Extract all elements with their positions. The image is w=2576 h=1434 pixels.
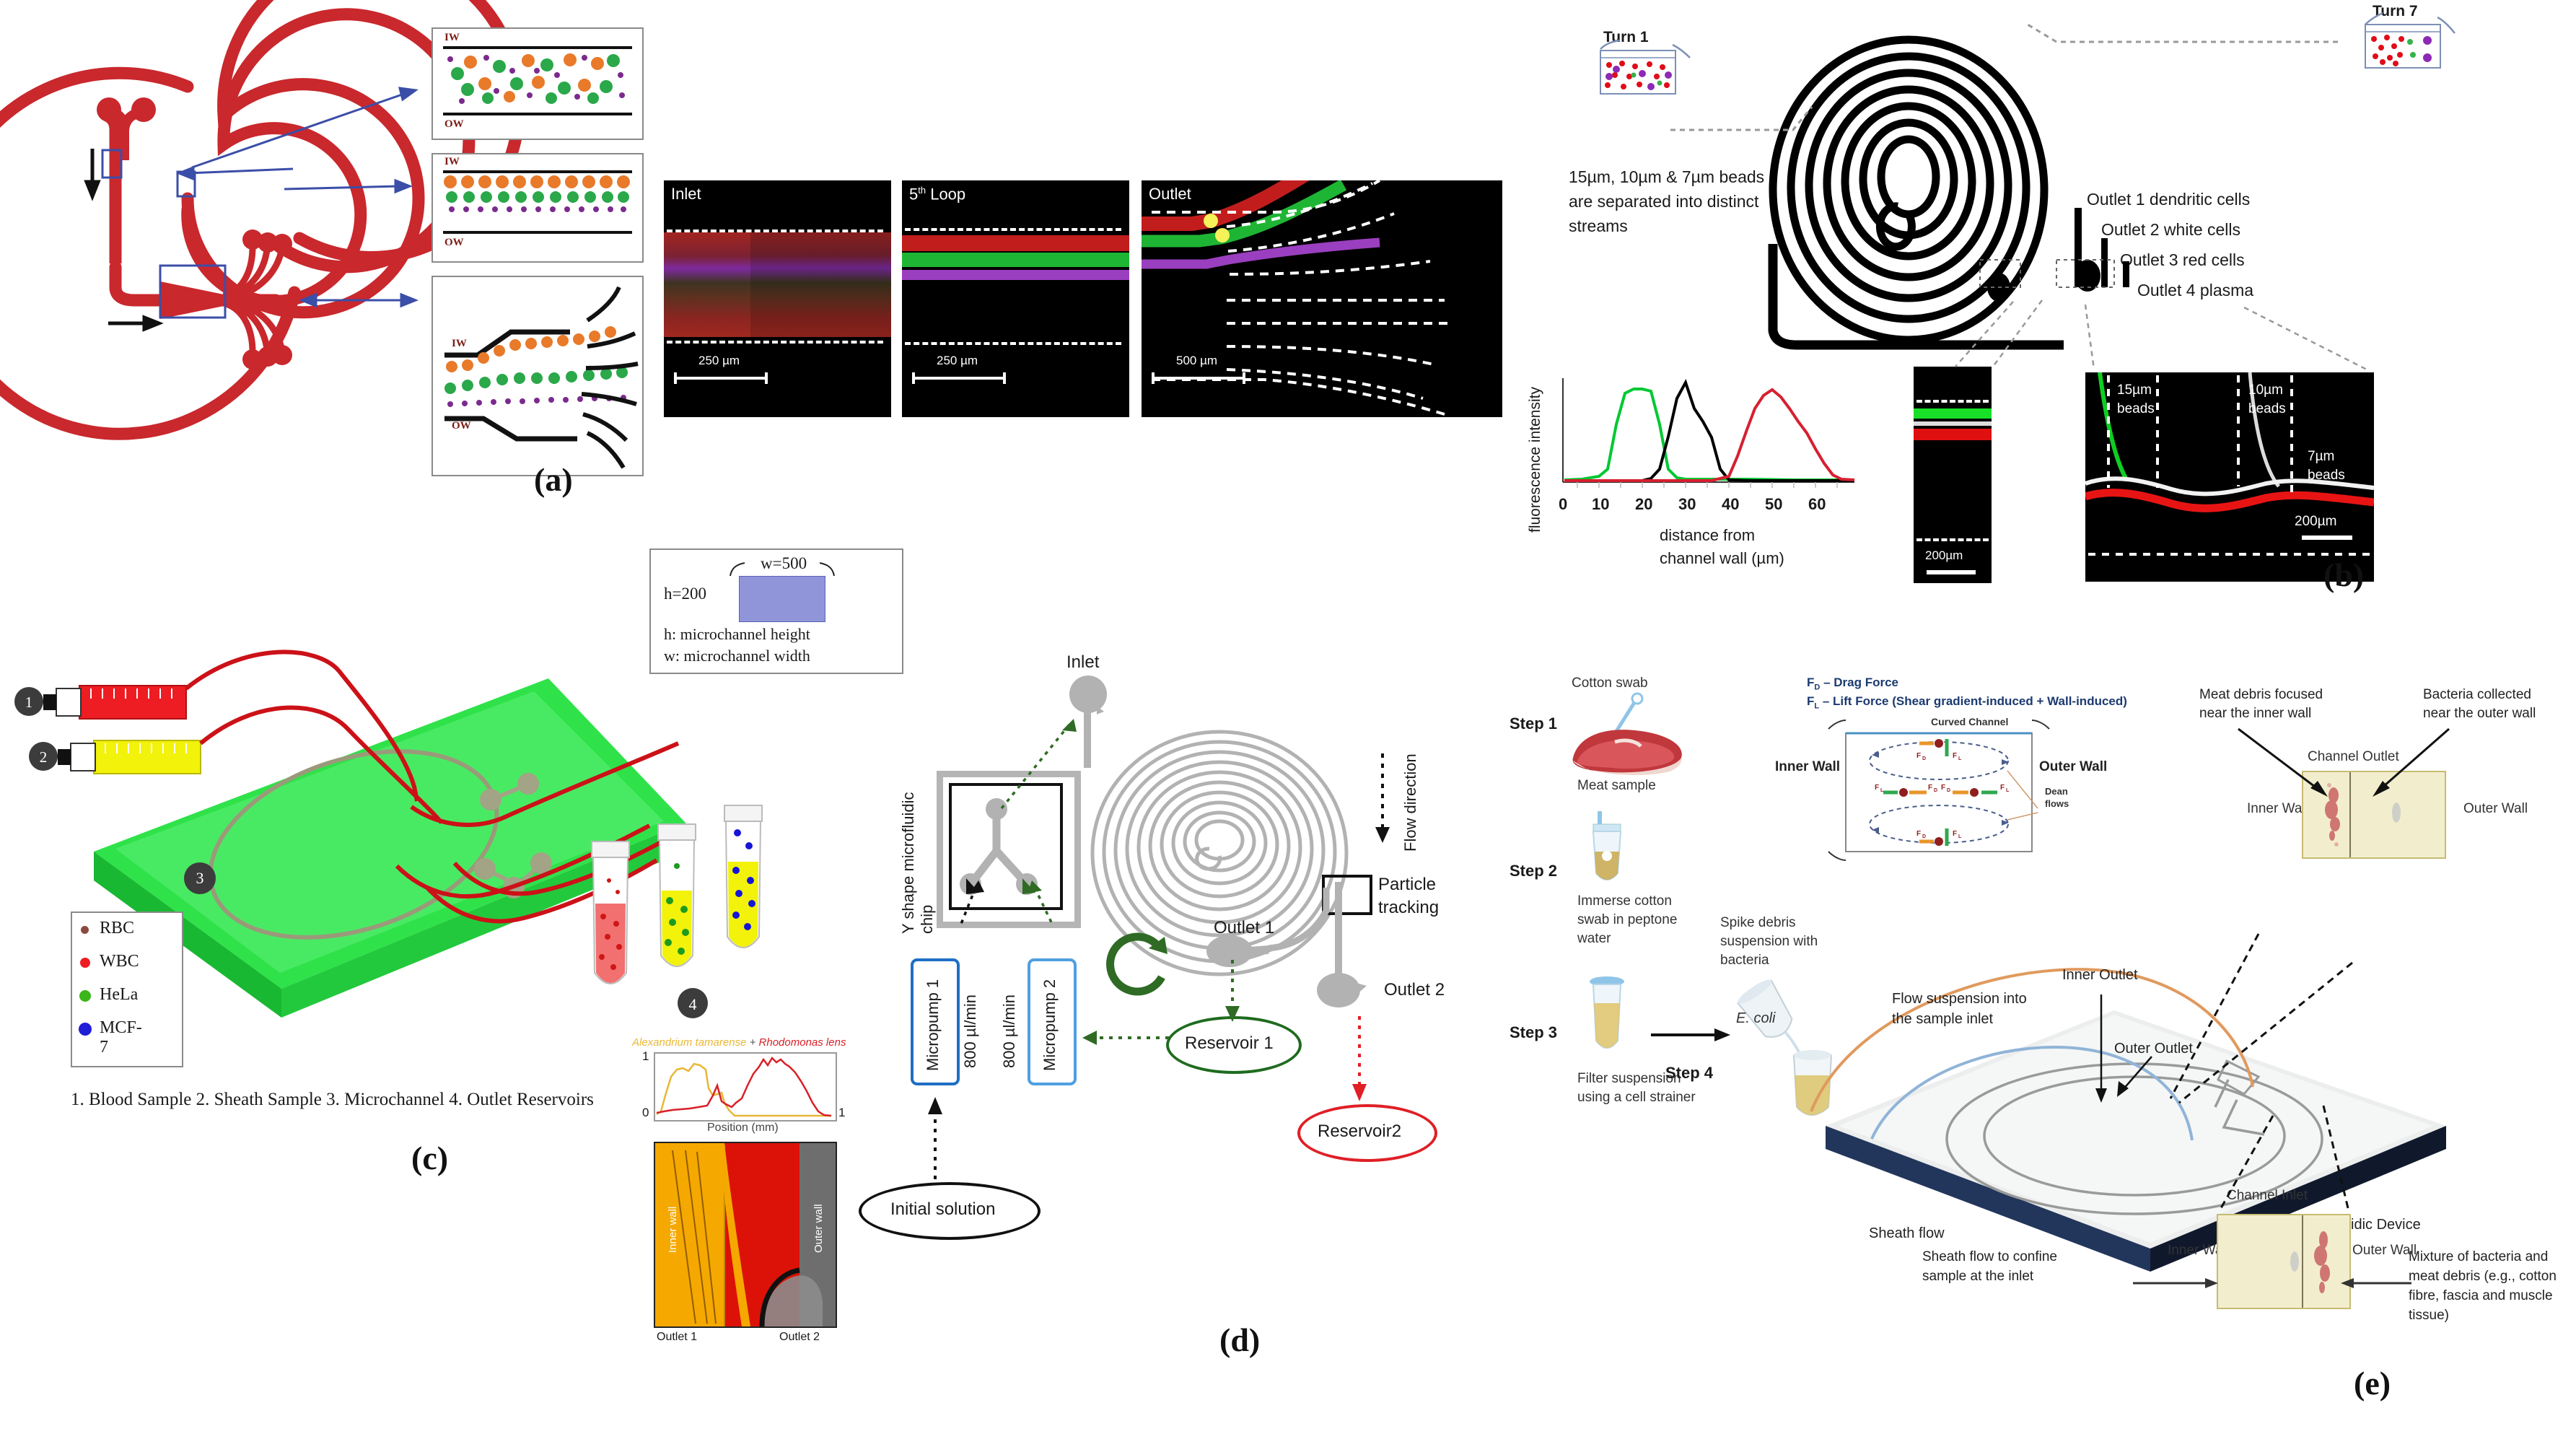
- panel-d-reservoir1-arrows: [1068, 945, 1256, 1054]
- svg-text:F: F: [1928, 784, 1932, 792]
- svg-text:L: L: [1958, 834, 1962, 839]
- panel-d-outlet2-label: Outlet 2: [1384, 980, 1445, 1000]
- inset1-ow-label: OW: [444, 118, 464, 131]
- inset1-ow-line: [443, 113, 632, 115]
- force-fd-symbol: F: [1807, 676, 1814, 689]
- inset2-ow-line: [443, 231, 632, 234]
- chart-xlabel-l0: distance from: [1660, 524, 1784, 547]
- inset-outer-wall-label: Outer wall: [812, 1181, 825, 1253]
- micrograph-loop-wall-top: [905, 228, 1121, 231]
- inset2-iw-label: IW: [444, 156, 460, 168]
- inset2-streams: [443, 175, 632, 218]
- inset-chart-plot: [655, 1054, 833, 1117]
- panel-b-fluorescence-chart: fluorescence intensity 0 10 20: [1523, 361, 1927, 599]
- step1-caption: Meat sample: [1577, 778, 1656, 794]
- panel-d-chip-label: Y shape microfluidic chip: [899, 761, 937, 934]
- micrograph-inlet-scalebar: [674, 377, 768, 380]
- panel-d-flowrate-2: 800 µl/min: [1000, 974, 1019, 1068]
- chart-xtick-1: 10: [1592, 495, 1609, 514]
- micrograph-outlet-scalebar-tick-l: [1152, 372, 1155, 384]
- micropump-1-label: Micropump 1: [924, 970, 942, 1071]
- chart-ylabel: fluorescence intensity: [1527, 374, 1544, 533]
- panel-b: Turn 1 Turn 7: [1515, 0, 2576, 599]
- step2-caption-l0: Immerse cotton: [1577, 892, 1677, 911]
- pb-bead-label-7: 7µm beads: [2308, 447, 2345, 485]
- rbc-dot-icon: [81, 926, 89, 934]
- panel-d-flow-direction-label: Flow direction: [1401, 743, 1420, 852]
- chart-xtick-4: 40: [1722, 495, 1739, 514]
- micrograph-loop-band-purple: [902, 270, 1129, 280]
- inset-chart-xlabel: Position (mm): [707, 1122, 779, 1134]
- panel-d-inset-chart: [654, 1052, 837, 1122]
- micrograph-inlet-wall-top: [667, 229, 883, 232]
- force-box-graphic: FD FL FD FL FL FD FD FL: [1821, 727, 2081, 857]
- force-fd-sub: D: [1814, 683, 1820, 691]
- turn7-label: Turn 7: [2373, 3, 2418, 20]
- panel-d-micropump-1[interactable]: Micropump 1: [911, 958, 960, 1085]
- step4-caption-l1: suspension with: [1720, 932, 1818, 951]
- inset1-iw-label: IW: [444, 32, 460, 44]
- panel-d-inlet-label: Inlet: [1066, 652, 1099, 673]
- pb-left-scalebar: [1927, 570, 1976, 574]
- inset-chart-xtick-1: 1: [838, 1106, 845, 1120]
- outlet-inset-ann-right: Bacteria collected near the outer wall: [2423, 686, 2536, 723]
- panel-b-micrograph-left: 200µm: [1914, 367, 1992, 583]
- step2-caption-l2: water: [1577, 930, 1677, 948]
- panel-d: Y shape microfluidic chip Inlet: [902, 635, 1479, 1393]
- micrograph-inlet-title: Inlet: [671, 185, 701, 204]
- inset2-ow-label: OW: [444, 237, 464, 249]
- micrograph-loop-title-num: 5: [909, 185, 918, 203]
- panel-a: IW OW IW: [0, 0, 1508, 527]
- panel-b-micrograph-leaders: [1905, 289, 2410, 382]
- pb-bead-15-l0: 15µm: [2117, 381, 2155, 400]
- svg-text:2: 2: [40, 748, 48, 766]
- svg-text:F: F: [1875, 784, 1879, 792]
- micrograph-loop-band-red: [902, 235, 1129, 251]
- pb-bead-10-l1: beads: [2248, 400, 2286, 419]
- pb-bead-7-l1: beads: [2308, 466, 2345, 485]
- pb-left-wall-bottom: [1916, 538, 1989, 541]
- hela-label: HeLa: [100, 985, 138, 1005]
- micrograph-inlet-stream-2: [664, 232, 891, 337]
- panel-c: w=500 h=200 h: microchannel height w: mi…: [0, 548, 931, 1039]
- chart-plot: [1557, 375, 1860, 491]
- inset-chart-ytick-0: 0: [642, 1106, 649, 1120]
- svg-text:F: F: [1953, 830, 1957, 838]
- panel-e: Cotton swab Step 1 Meat sample Step 2 Im…: [1472, 664, 2576, 1429]
- species-plus: +: [746, 1036, 758, 1049]
- pb-bead-10-l0: 10µm: [2248, 381, 2286, 400]
- svg-text:F: F: [1953, 752, 1957, 760]
- panel-d-flowrate-1: 800 µl/min: [961, 974, 980, 1068]
- panel-c-cell-legend: RBC WBC HeLa MCF-7: [71, 911, 183, 1067]
- panel-e-label: (e): [2354, 1364, 2391, 1402]
- micrograph-inlet-scalebar-tick-r: [765, 372, 768, 384]
- panel-e-step2: Step 2 Immerse cotton swab in peptone wa…: [1472, 811, 1732, 956]
- panel-d-reservoir-2: Reservoir2: [1297, 1104, 1437, 1162]
- inlet-inset-leaders: [2194, 1116, 2410, 1224]
- step4-id: Step 4: [1665, 1064, 1713, 1083]
- micrograph-loop-scalebar: [912, 377, 1006, 380]
- panel-b-outlet-1: Outlet 1 dendritic cells: [2087, 190, 2250, 209]
- inlet-inset-arrows: [2133, 1273, 2436, 1302]
- svg-text:L: L: [2006, 788, 2010, 793]
- svg-text:L: L: [1880, 788, 1884, 793]
- step4-caption: Spike debris suspension with bacteria: [1720, 914, 1818, 970]
- micropump-2-label: Micropump 2: [1041, 970, 1059, 1071]
- panel-e-outlet-inset: Meat debris focused near the inner wall …: [2194, 686, 2576, 852]
- svg-text:D: D: [1922, 834, 1926, 839]
- panel-c-callout-3: 3: [184, 862, 216, 894]
- svg-text:D: D: [1934, 788, 1937, 793]
- step3-caption-l1: using a cell strainer: [1577, 1088, 1696, 1107]
- step3-id: Step 3: [1510, 1023, 1557, 1042]
- micrograph-streaks: [655, 1143, 836, 1326]
- svg-text:F: F: [1916, 752, 1921, 760]
- chart-xtick-0: 0: [1559, 495, 1567, 514]
- panel-e-force-box: FD – Drag Force FL – Lift Force (Shear g…: [1781, 676, 2250, 856]
- panel-d-inset-micrograph: Inner wall Outer wall: [654, 1142, 837, 1328]
- panel-b-label: (b): [2323, 556, 2364, 594]
- panel-a-label: (a): [534, 460, 573, 499]
- outlet-inset-ann-left: Meat debris focused near the inner wall: [2199, 686, 2323, 723]
- step2-id: Step 2: [1510, 862, 1557, 880]
- inset1-iw-line: [443, 46, 632, 49]
- inlet-ann-left-l0: Sheath flow to confine: [1922, 1247, 2057, 1267]
- reservoir-2-label: Reservoir2: [1318, 1122, 1401, 1142]
- force-legend-drag: FD – Drag Force: [1807, 676, 1898, 691]
- step1-id: Step 1: [1510, 714, 1557, 733]
- pb-left-wall-top: [1916, 400, 1989, 403]
- pb-bead-label-10: 10µm beads: [2248, 381, 2286, 419]
- force-drag-text: – Drag Force: [1823, 676, 1898, 689]
- chart-xlabel-l1: channel wall (µm): [1660, 547, 1784, 570]
- panel-b-outlet-stems: [2013, 208, 2172, 302]
- step4-caption-l0: Spike debris: [1720, 914, 1818, 932]
- micrograph-outlet-scalebar-tick-r: [1243, 372, 1245, 384]
- inset3-ow-label: OW: [452, 420, 471, 432]
- pb-right-scalebar-label: 200µm: [2295, 514, 2336, 530]
- force-fl-sub: L: [1814, 701, 1819, 710]
- inlet-inset-outer-wall: Outer Wall: [2352, 1243, 2417, 1259]
- panel-a-micrograph-inlet: Inlet 250 µm: [664, 180, 891, 417]
- panel-c-outlet-tubes: 4: [584, 837, 830, 1025]
- step1-graphic: [1566, 691, 1696, 778]
- panel-e-inlet-inset: Channel Inlet Inner Wall Outer Wall Shea…: [1472, 1188, 2576, 1368]
- micrograph-loop-title: 5th Loop: [909, 185, 965, 204]
- panel-c-caption: 1. Blood Sample 2. Sheath Sample 3. Micr…: [71, 1090, 594, 1110]
- svg-text:1: 1: [25, 694, 33, 711]
- panel-d-inset: Alexandrium tamarense + Rhodomonas lens …: [628, 1036, 909, 1426]
- panel-e-flow-suspension-label: Flow suspension into the sample inlet: [1892, 989, 2027, 1029]
- force-curved-channel-label: Curved Channel: [1931, 716, 2008, 727]
- step4-caption-l2: bacteria: [1720, 951, 1818, 970]
- micrograph-inlet-wall-bottom: [667, 341, 883, 344]
- micrograph-outlet-title: Outlet: [1149, 185, 1191, 204]
- svg-text:F: F: [1941, 784, 1945, 792]
- pb-left-red-band: [1914, 429, 1992, 440]
- micrograph-inlet-scalebar-tick-l: [674, 372, 677, 384]
- flow-susp-l0: Flow suspension into: [1892, 989, 2027, 1009]
- inset2-iw-line: [443, 170, 632, 173]
- species-b-label: Rhodomonas lens: [759, 1036, 846, 1049]
- panel-d-label: (d): [1219, 1321, 1260, 1359]
- step1-annotation: Cotton swab: [1572, 676, 1648, 691]
- inset3-graphic: [433, 277, 639, 472]
- panel-b-description-line-1: are separated into distinct: [1569, 189, 1764, 214]
- panel-b-turn7-leader: [1970, 19, 2345, 62]
- panel-b-micrograph-right: 15µm beads 10µm beads 7µm beads 200µm: [2085, 372, 2374, 582]
- pb-left-green-band: [1914, 408, 1992, 419]
- dim-height-label: h=200: [664, 585, 706, 603]
- svg-text:L: L: [1958, 756, 1962, 761]
- panel-c-callout-3-text: 3: [196, 869, 204, 887]
- panel-a-micrograph-outlet: Outlet 500 µm: [1142, 180, 1502, 417]
- step2-graphic: [1582, 811, 1639, 898]
- panel-d-initial-arrow: [922, 1090, 958, 1184]
- step2-caption-l1: swab in peptone: [1577, 911, 1677, 930]
- panel-b-turn7-inset: Turn 7: [2338, 3, 2475, 82]
- hela-dot-icon: [79, 990, 91, 1002]
- panel-a-inset-mixed: IW OW: [431, 27, 644, 140]
- step2-caption: Immerse cotton swab in peptone water: [1577, 892, 1677, 948]
- force-legend-lift: FL – Lift Force (Shear gradient-induced …: [1807, 694, 2127, 710]
- pb-bead-15-l1: beads: [2117, 400, 2155, 419]
- svg-text:D: D: [1922, 756, 1926, 761]
- chart-xtick-2: 20: [1635, 495, 1652, 514]
- micrograph-inlet-scalebar-label: 250 µm: [698, 354, 740, 368]
- micrograph-loop-wall-bottom: [905, 342, 1121, 345]
- mcf7-label: MCF-7: [100, 1018, 142, 1057]
- micrograph-loop-scalebar-tick-r: [1003, 372, 1006, 384]
- panel-b-description: 15µm, 10µm & 7µm beads are separated int…: [1569, 165, 1764, 238]
- panel-b-description-line-0: 15µm, 10µm & 7µm beads: [1569, 165, 1764, 189]
- inlet-inset-ann-left: Sheath flow to confine sample at the inl…: [1922, 1247, 2057, 1286]
- micrograph-outlet-streams: [1142, 180, 1502, 417]
- inset-outlet1-label: Outlet 1: [657, 1331, 697, 1344]
- panel-c-label: (c): [411, 1139, 448, 1177]
- species-a-label: Alexandrium tamarense: [632, 1036, 746, 1049]
- svg-text:D: D: [1947, 788, 1950, 793]
- panel-a-inset-focused: IW OW: [431, 153, 644, 263]
- pb-bead-7-l0: 7µm: [2308, 447, 2345, 466]
- outlet-ann-left-l1: near the inner wall: [2199, 704, 2323, 723]
- micrograph-outlet-scalebar-label: 500 µm: [1176, 354, 1217, 368]
- pb-left-white-band: [1914, 421, 1992, 426]
- svg-text:F: F: [2000, 784, 2005, 792]
- outlet-ann-right-l1: near the outer wall: [2423, 704, 2536, 723]
- step4-annotation: E. coli: [1736, 1010, 1775, 1027]
- chart-xtick-3: 30: [1678, 495, 1696, 514]
- inset-inner-wall-label: Inner wall: [667, 1181, 679, 1253]
- dim-legend-h: h: microchannel height: [664, 625, 810, 644]
- inlet-ann-left-l1: sample at the inlet: [1922, 1267, 2057, 1286]
- outlet-ann-right-l0: Bacteria collected: [2423, 686, 2536, 704]
- panel-a-micrograph-loop: 5th Loop 250 µm: [902, 180, 1129, 417]
- inset-chart-ytick-1: 1: [642, 1049, 649, 1064]
- force-fl-symbol: F: [1807, 694, 1814, 708]
- chart-xtick-6: 60: [1808, 495, 1826, 514]
- pb-left-scalebar-label: 200µm: [1925, 548, 1963, 563]
- panel-d-inset-title: Alexandrium tamarense + Rhodomonas lens: [632, 1036, 846, 1049]
- outlet-inset-arrows: [2222, 722, 2525, 808]
- micrograph-loop-band-green: [902, 253, 1129, 267]
- outlet-ann-left-l0: Meat debris focused: [2199, 686, 2323, 704]
- turn7-box: [2338, 19, 2475, 82]
- inset1-particles: [443, 51, 632, 107]
- dim-braces: [726, 560, 841, 589]
- panel-b-turn1-leader: [1670, 92, 1815, 143]
- wbc-label: WBC: [100, 952, 139, 971]
- svg-text:F: F: [1916, 830, 1921, 838]
- micrograph-outlet-scalebar: [1152, 377, 1245, 380]
- chart-xlabel: distance from channel wall (µm): [1660, 524, 1784, 570]
- panel-a-inset-outlet: IW OW: [431, 276, 644, 476]
- panel-e-step1: Cotton swab Step 1 Meat sample: [1472, 664, 1732, 816]
- wbc-dot-icon: [80, 958, 90, 968]
- panel-d-reservoir2-arrow: [1346, 1016, 1383, 1110]
- pb-bead-label-15: 15µm beads: [2117, 381, 2155, 419]
- micrograph-loop-title-rest: Loop: [926, 185, 965, 203]
- micrograph-loop-title-sup: th: [918, 185, 926, 196]
- panel-d-flow-direction-arrow: [1370, 749, 1398, 857]
- svg-text:4: 4: [689, 995, 697, 1013]
- inset3-iw-label: IW: [452, 338, 467, 350]
- step3-graphic: [1582, 971, 1639, 1065]
- inset-outlet2-label: Outlet 2: [779, 1331, 820, 1344]
- panel-b-description-line-2: streams: [1569, 214, 1764, 238]
- pb-right-scalebar: [2302, 535, 2352, 540]
- flow-susp-l1: the sample inlet: [1892, 1009, 2027, 1029]
- micrograph-loop-scalebar-tick-l: [912, 372, 915, 384]
- chart-xtick-5: 50: [1765, 495, 1782, 514]
- mcf7-dot-icon: [79, 1023, 92, 1036]
- micrograph-loop-scalebar-label: 250 µm: [937, 354, 978, 368]
- rbc-label: RBC: [100, 919, 134, 938]
- force-lift-text: – Lift Force (Shear gradient-induced + W…: [1823, 694, 2127, 708]
